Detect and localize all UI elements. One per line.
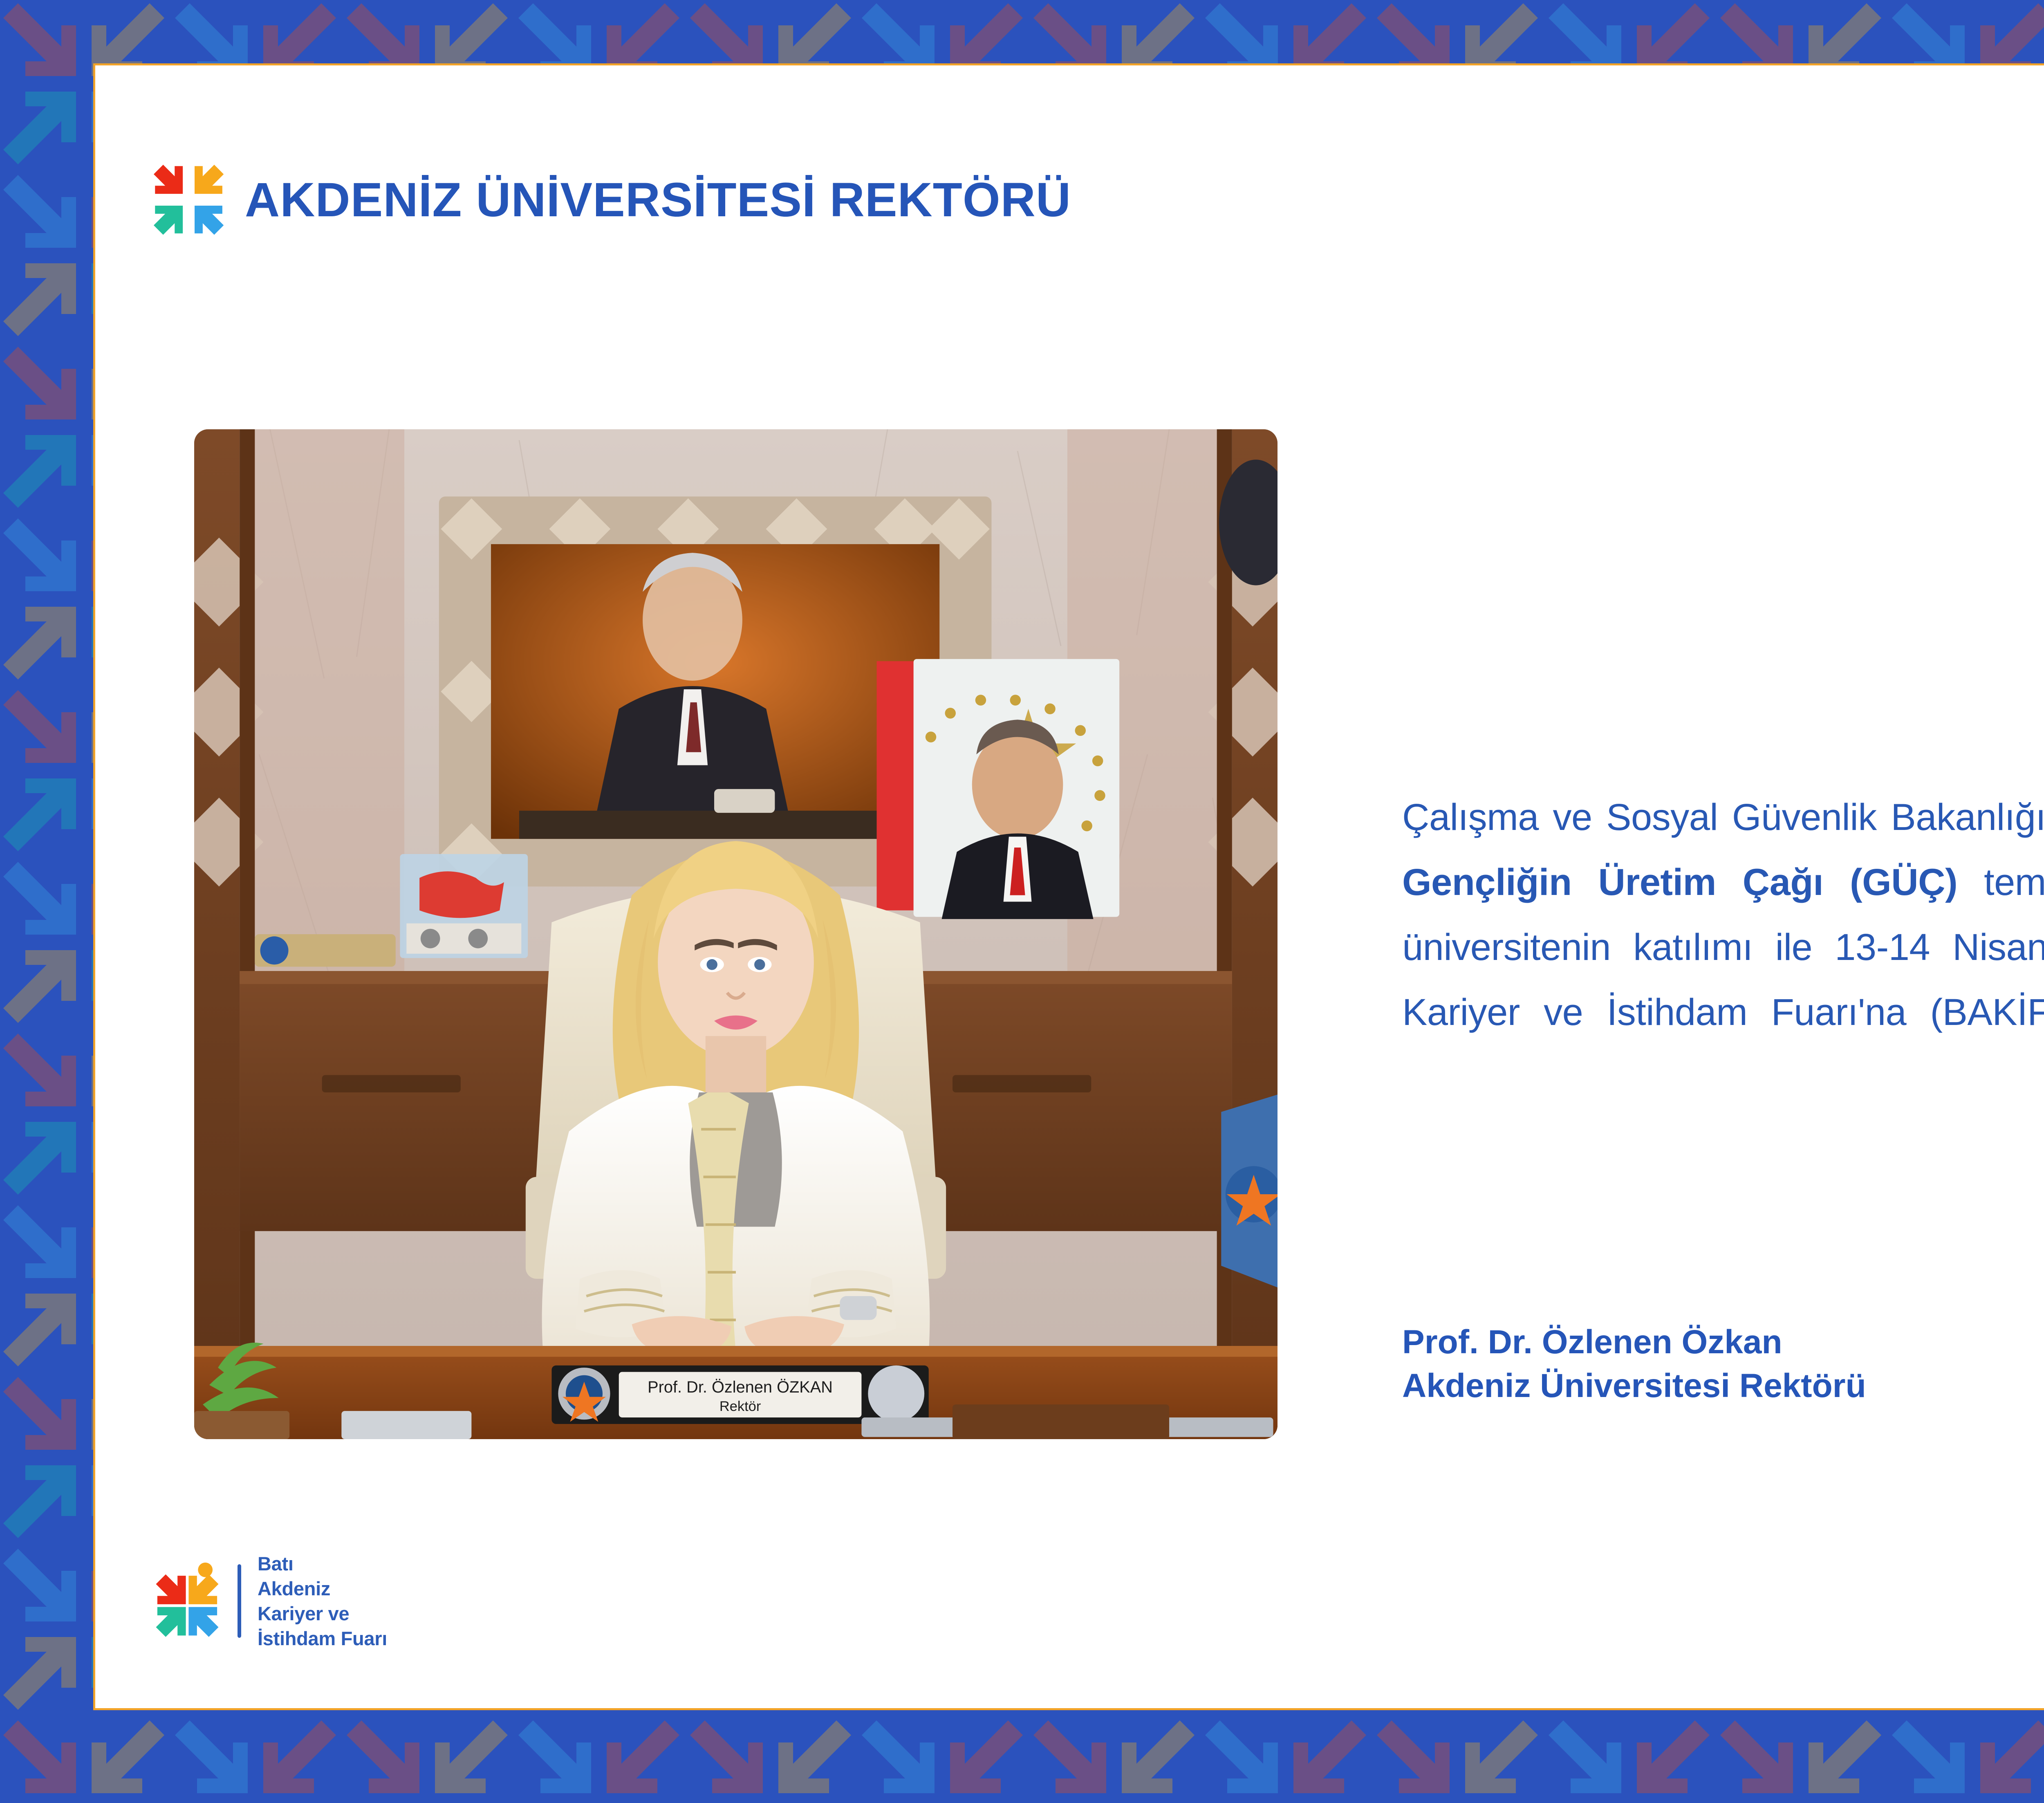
rector-photo: Prof. Dr. Özlenen ÖZKAN Rektör [194, 429, 1277, 1439]
footer-divider [238, 1564, 241, 1638]
svg-text:Rektör: Rektör [719, 1399, 761, 1414]
message-part-1: Çalışma ve Sosyal Güvenlik Bakanlığı Tür… [1402, 796, 2044, 838]
bakif-four-arrows-logo-icon [152, 164, 225, 236]
message-highlight: Gençliğin Üretim Çağı (GÜÇ) [1402, 861, 1957, 903]
header: AKDENİZ ÜNİVERSİTESİ REKTÖRÜ [152, 164, 1071, 236]
signature-role: Akdeniz Üniversitesi Rektörü [1402, 1364, 1866, 1408]
signature-block: Prof. Dr. Özlenen Özkan Akdeniz Üniversi… [1402, 1321, 1866, 1408]
message-body: Çalışma ve Sosyal Güvenlik Bakanlığı Tür… [1402, 785, 2044, 1045]
svg-text:Prof. Dr. Özlenen ÖZKAN: Prof. Dr. Özlenen ÖZKAN [648, 1378, 833, 1396]
signature-name: Prof. Dr. Özlenen Özkan [1402, 1321, 1866, 1364]
footer-bakif-lockup: Batı Akdeniz Kariyer ve İstihdam Fuarı [152, 1551, 387, 1651]
slide-card: AKDENİZ ÜNİVERSİTESİ REKTÖRÜ [93, 63, 2044, 1710]
footer-wordmark: Batı Akdeniz Kariyer ve İstihdam Fuarı [258, 1551, 387, 1651]
message-paragraph: Çalışma ve Sosyal Güvenlik Bakanlığı Tür… [1402, 785, 2044, 1045]
bakif-four-arrows-logo-icon [152, 1562, 222, 1640]
page-title: AKDENİZ ÜNİVERSİTESİ REKTÖRÜ [245, 176, 1071, 224]
